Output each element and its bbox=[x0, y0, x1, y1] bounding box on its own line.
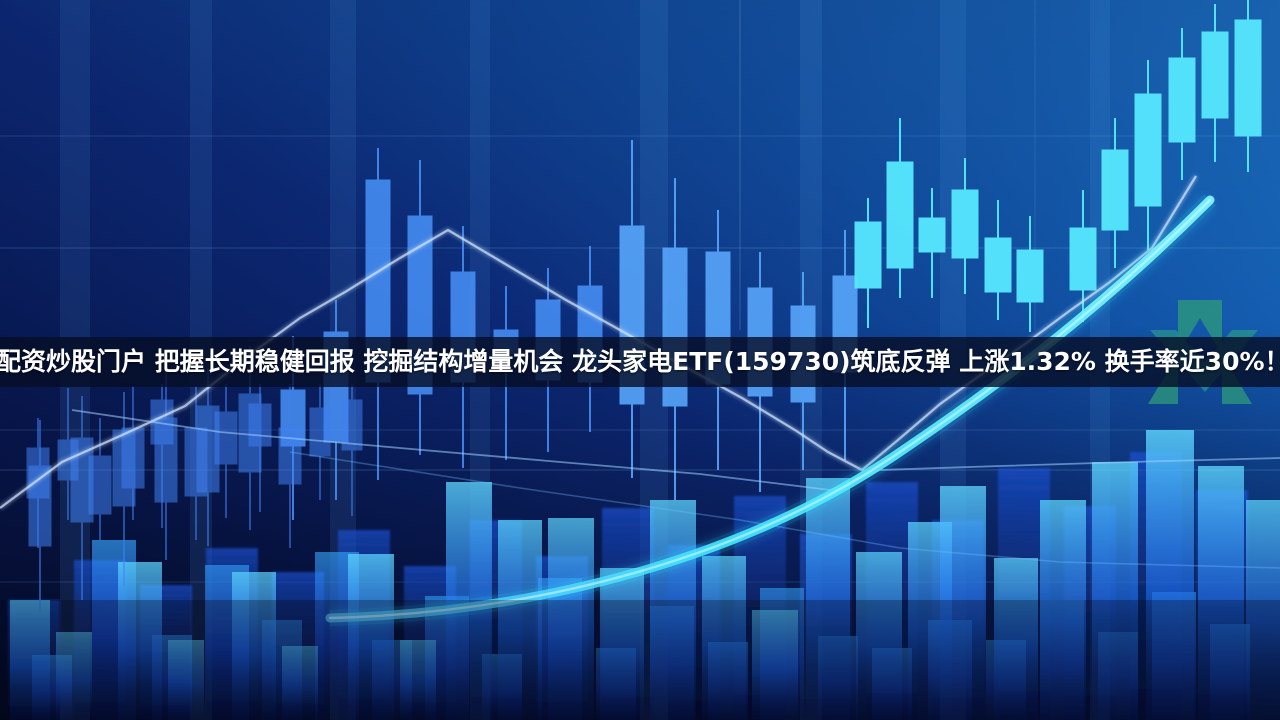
promo-banner-image: 配资炒股门户 把握长期稳健回报 挖掘结构增量机会 龙头家电ETF(159730)… bbox=[0, 0, 1280, 720]
headline-text: 配资炒股门户 把握长期稳健回报 挖掘结构增量机会 龙头家电ETF(159730)… bbox=[0, 337, 1280, 387]
headline-band: 配资炒股门户 把握长期稳健回报 挖掘结构增量机会 龙头家电ETF(159730)… bbox=[0, 337, 1280, 387]
bottom-shade bbox=[0, 600, 1280, 720]
